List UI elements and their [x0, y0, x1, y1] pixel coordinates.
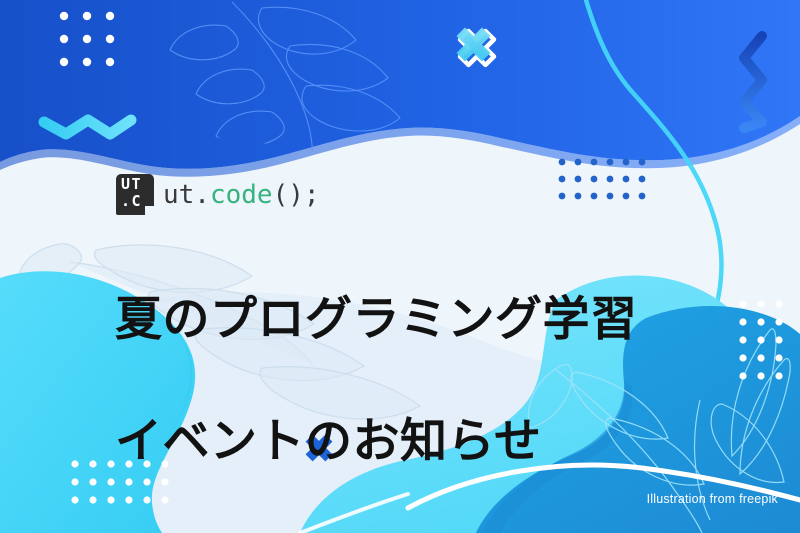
- logo-notch: [145, 206, 154, 215]
- poster-canvas: UT .C ut.code(); 夏のプログラミング学習 イベントのお知らせ I…: [0, 0, 800, 533]
- brand-wordmark: ut.code();: [163, 180, 320, 210]
- logo-top-text: UT: [121, 177, 150, 192]
- headline-line-1: 夏のプログラミング学習: [115, 289, 755, 350]
- headline: 夏のプログラミング学習 イベントのお知らせ: [115, 228, 755, 533]
- wordmark-suffix: ();: [273, 180, 320, 210]
- wordmark-accent: code: [210, 180, 273, 210]
- wordmark-prefix: ut.: [163, 180, 210, 210]
- headline-line-2: イベントのお知らせ: [115, 411, 755, 472]
- brand-lockup: UT .C ut.code();: [116, 174, 320, 215]
- illustration-credit: Illustration from freepik: [647, 492, 778, 506]
- utcode-logo-icon: UT .C: [116, 174, 154, 215]
